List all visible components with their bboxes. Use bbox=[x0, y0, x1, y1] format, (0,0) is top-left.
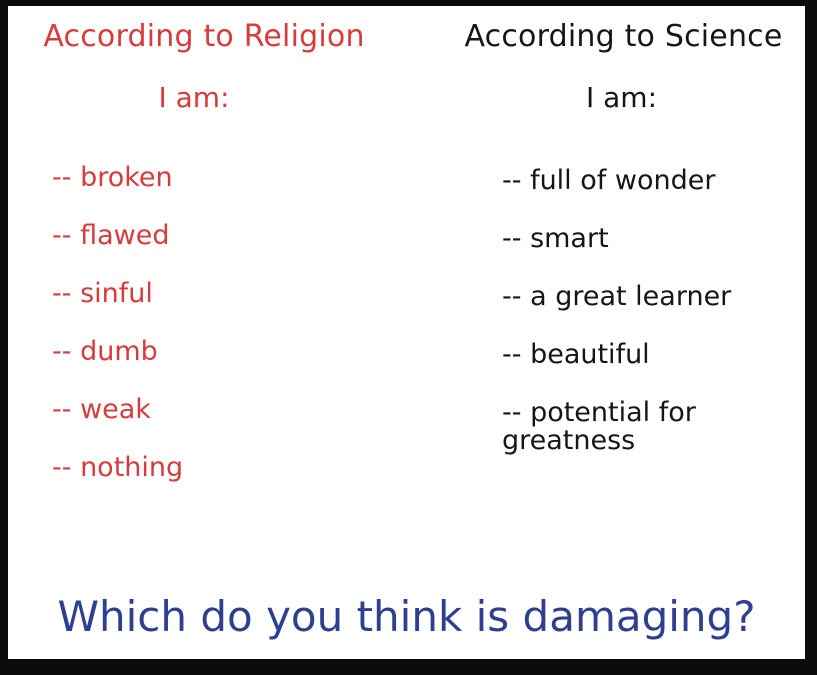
column-science-title: According to Science bbox=[442, 22, 805, 52]
column-science-subtitle: I am: bbox=[438, 84, 805, 112]
list-item: -- flawed bbox=[52, 222, 438, 280]
column-religion-title: According to Religion bbox=[8, 22, 438, 52]
column-religion-list: -- broken -- flawed -- sinful -- dumb --… bbox=[12, 164, 438, 512]
column-science-list: -- full of wonder -- smart -- a great le… bbox=[438, 167, 805, 495]
list-item: -- full of wonder bbox=[502, 167, 805, 225]
comparison-columns: According to Religion I am: -- broken --… bbox=[8, 6, 805, 551]
column-science: According to Science I am: -- full of wo… bbox=[438, 6, 805, 551]
closing-question: Which do you think is damaging? bbox=[8, 596, 805, 638]
list-item: -- potential for greatness bbox=[502, 399, 805, 495]
column-religion-subtitle: I am: bbox=[8, 84, 438, 112]
list-item: -- a great learner bbox=[502, 283, 805, 341]
list-item: -- beautiful bbox=[502, 341, 805, 399]
list-item: -- nothing bbox=[52, 454, 438, 512]
list-item: -- weak bbox=[52, 396, 438, 454]
list-item: -- dumb bbox=[52, 338, 438, 396]
poster-paper: According to Religion I am: -- broken --… bbox=[8, 6, 805, 659]
poster-frame: According to Religion I am: -- broken --… bbox=[0, 0, 817, 675]
list-item: -- smart bbox=[502, 225, 805, 283]
list-item: -- broken bbox=[52, 164, 438, 222]
column-religion: According to Religion I am: -- broken --… bbox=[8, 6, 438, 551]
list-item: -- sinful bbox=[52, 280, 438, 338]
